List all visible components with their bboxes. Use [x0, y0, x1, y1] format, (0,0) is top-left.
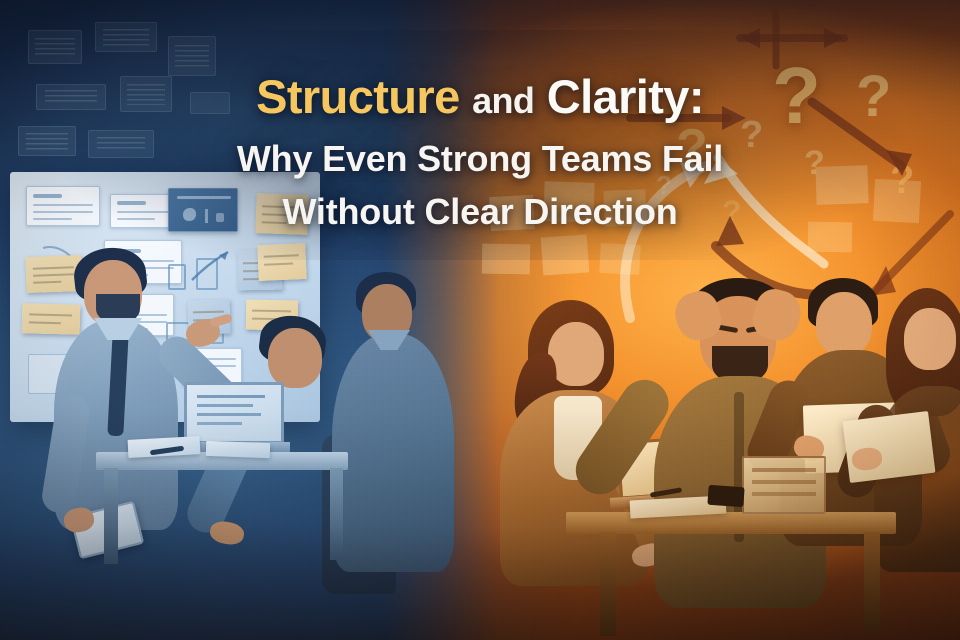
hero-banner: ? ? ? ? ? ? ? ? ? — [0, 0, 960, 640]
paint-grain-overlay — [0, 0, 960, 640]
